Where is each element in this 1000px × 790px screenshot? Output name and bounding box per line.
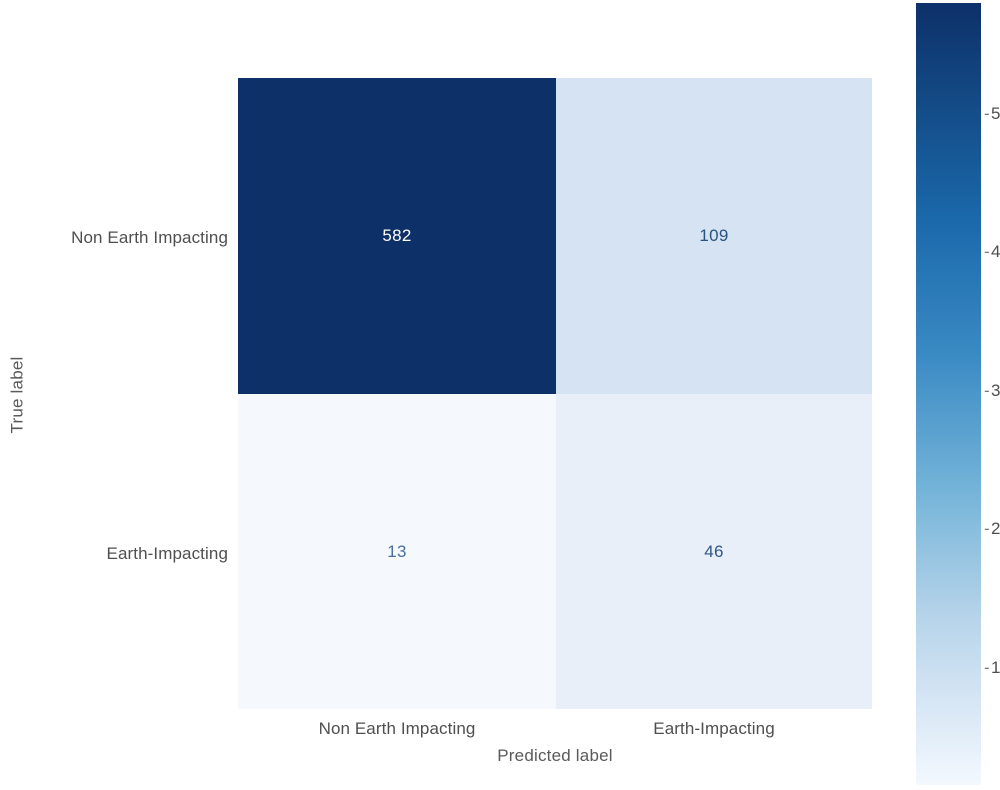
colorbar-tick-mark: - [984,519,991,539]
colorbar: -500-400-300-200-100 [916,3,981,785]
y-axis-title: True label [2,335,32,455]
colorbar-tick-mark: - [984,658,991,678]
x-tick-label-0: Non Earth Impacting [238,719,556,739]
matrix-cell-true0-pred0: 582 [238,78,556,394]
colorbar-tick-text: 300 [991,381,1000,400]
colorbar-tick-label-400: -400 [984,242,1000,262]
y-axis-title-text: True label [7,357,27,434]
colorbar-tick-label-200: -200 [984,519,1000,539]
y-tick-label-1: Earth-Impacting [0,544,228,564]
colorbar-tick-label-100: -100 [984,658,1000,678]
colorbar-tick-mark: - [984,381,991,401]
colorbar-tick-text: 100 [991,658,1000,677]
colorbar-tick-text: 500 [991,104,1000,123]
matrix-cell-true1-pred1: 46 [556,394,872,709]
matrix-cell-value: 582 [382,226,411,246]
colorbar-tick-label-300: -300 [984,381,1000,401]
matrix-cell-value: 13 [387,542,407,562]
x-tick-label-1: Earth-Impacting [556,719,872,739]
confusion-matrix-heatmap: 582 109 13 46 [238,78,872,709]
colorbar-gradient [916,3,981,785]
x-axis-title: Predicted label [238,746,872,766]
y-tick-label-0: Non Earth Impacting [0,228,228,248]
matrix-cell-value: 109 [699,226,728,246]
matrix-cell-value: 46 [704,542,724,562]
colorbar-tick-text: 400 [991,242,1000,261]
matrix-cell-true1-pred0: 13 [238,394,556,709]
colorbar-tick-label-500: -500 [984,104,1000,124]
colorbar-tick-mark: - [984,242,991,262]
colorbar-tick-text: 200 [991,519,1000,538]
matrix-cell-true0-pred1: 109 [556,78,872,394]
colorbar-tick-mark: - [984,104,991,124]
